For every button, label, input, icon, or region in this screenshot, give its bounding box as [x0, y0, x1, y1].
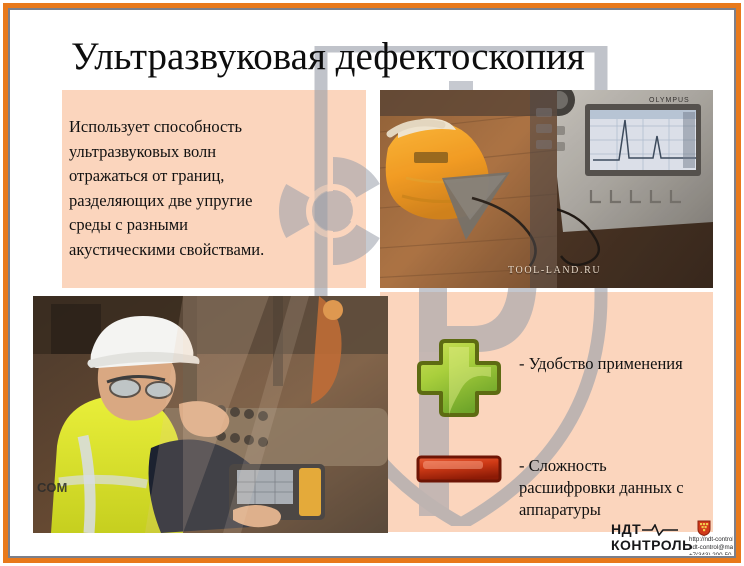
photo-glove-art [380, 90, 557, 288]
plus-icon [415, 337, 503, 419]
shield-emblem-icon [697, 520, 711, 536]
logo-contact-info: http://ndt-control.ru ndt-control@mail.r… [689, 536, 733, 555]
photo-worker: COM [33, 296, 388, 533]
body-line: акустическими свойствами. [69, 238, 359, 263]
bullet-line: расшифровки данных с [519, 477, 694, 499]
bullet-line: - Сложность [519, 455, 694, 477]
page-title: Ультразвуковая дефектоскопия [71, 33, 711, 81]
company-logo[interactable]: НДТ КОНТРОЛЬ http://ndt-control.ru ndt-c… [611, 520, 733, 555]
body-line: разделяющих две упругие [69, 189, 359, 214]
photo-worker-art: COM [33, 296, 388, 533]
photo-device: OLYMPUS [557, 90, 713, 288]
waveform-icon [642, 524, 678, 536]
body-line: ультразвуковых волн [69, 140, 359, 165]
bullet-disadvantage: - Сложность расшифровки данных с аппарат… [519, 455, 694, 521]
body-paragraph: Использует способность ультразвуковых во… [69, 115, 359, 262]
bullet-line: аппаратуры [519, 499, 694, 521]
body-line: Использует способность [69, 115, 359, 140]
logo-website[interactable]: http://ndt-control.ru [689, 536, 733, 544]
svg-text:COM: COM [37, 480, 67, 495]
body-line: среды с разными [69, 213, 359, 238]
photo-glove [380, 90, 557, 288]
logo-name-bottom: КОНТРОЛЬ [611, 537, 687, 553]
photo-device-art: OLYMPUS [557, 90, 713, 288]
logo-wordmark: НДТ КОНТРОЛЬ [611, 522, 687, 553]
slide-canvas: Ультразвуковая дефектоскопия Использует … [11, 11, 733, 555]
logo-email[interactable]: ndt-control@mail.ru [689, 544, 733, 552]
minus-icon [415, 454, 503, 484]
logo-phone: +7(343) 200-50-22 [689, 552, 733, 555]
body-line: отражаться от границ, [69, 164, 359, 189]
slide: Ультразвуковая дефектоскопия Использует … [0, 0, 744, 566]
bullet-advantage: - Удобство применения [519, 353, 719, 375]
logo-name-top: НДТ [611, 522, 641, 537]
